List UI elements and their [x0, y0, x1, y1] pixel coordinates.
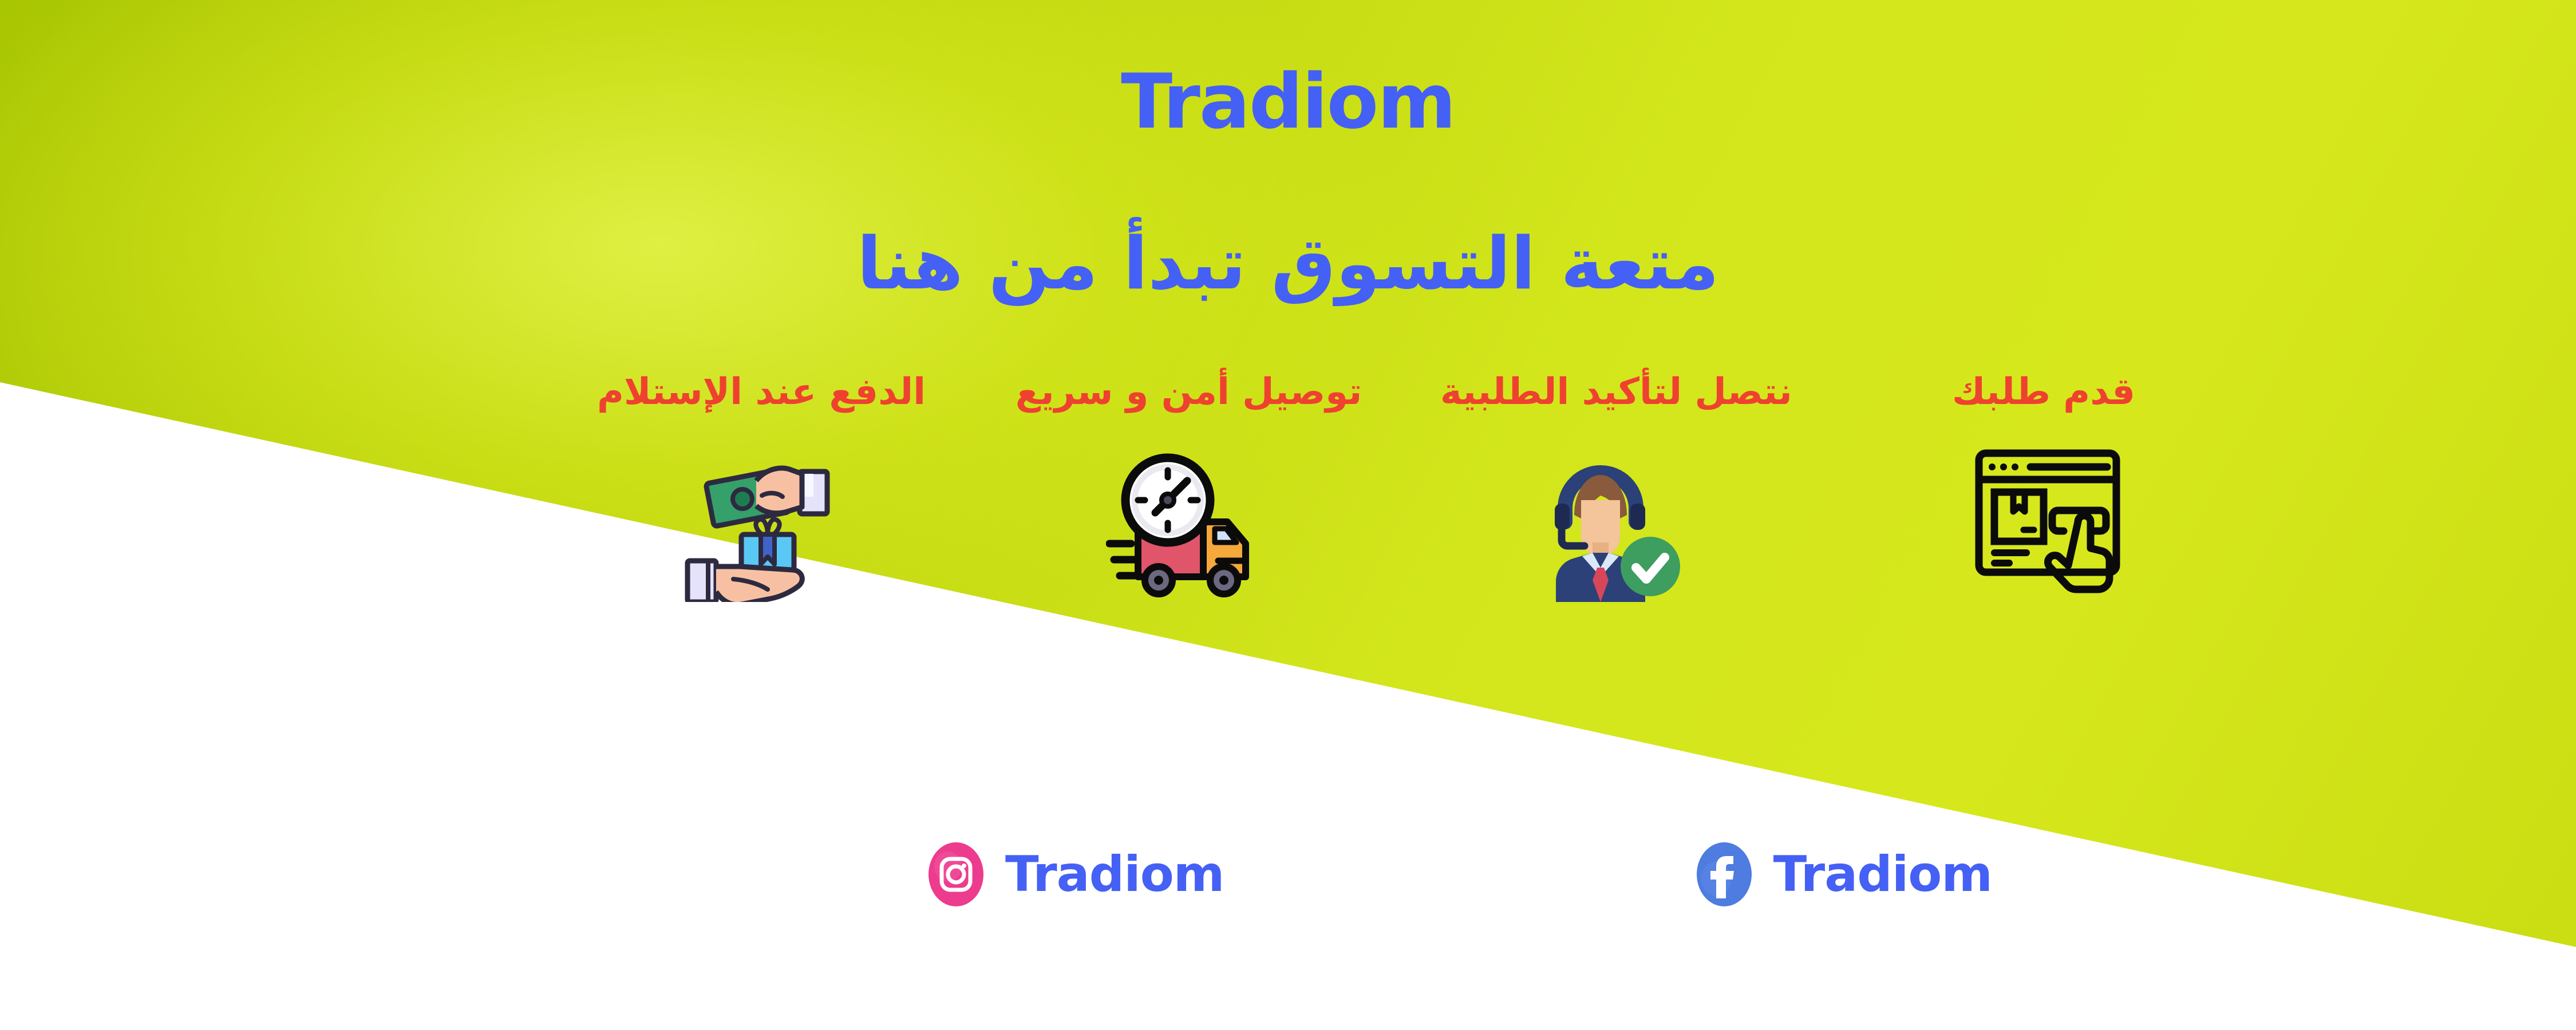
feature-item-cash-on-delivery: الدفع عند الإستلام	[561, 372, 962, 602]
feature-item-submit-order: قدم طلبك	[1843, 372, 2244, 602]
facebook-icon[interactable]	[1696, 841, 1753, 908]
browser-order-click-icon	[1961, 436, 2127, 602]
support-agent-confirmed-icon	[1533, 436, 1699, 602]
feature-label: قدم طلبك	[1952, 372, 2135, 412]
feature-item-order-confirmation-call: نتصل لتأكيد الطلبية	[1416, 372, 1816, 602]
social-row: Tradiom Tradiom	[927, 823, 1992, 926]
cash-on-delivery-icon	[678, 436, 844, 602]
social-link-facebook[interactable]: Tradiom	[1696, 841, 1992, 908]
page-title: Tradiom	[0, 64, 2576, 140]
feature-label: توصيل أمن و سريع	[1016, 372, 1362, 412]
social-label: Tradiom	[1005, 850, 1224, 899]
feature-label: نتصل لتأكيد الطلبية	[1440, 372, 1792, 412]
fast-delivery-truck-icon	[1106, 436, 1272, 602]
tagline: متعة التسوق تبدأ من هنا	[0, 219, 2576, 309]
feature-row: قدم طلبك	[561, 372, 2244, 641]
feature-label: الدفع عند الإستلام	[597, 372, 926, 412]
social-label: Tradiom	[1773, 850, 1992, 899]
instagram-icon[interactable]	[927, 841, 985, 908]
feature-item-fast-delivery: توصيل أمن و سريع	[989, 372, 1389, 602]
social-link-instagram[interactable]: Tradiom	[927, 841, 1224, 908]
